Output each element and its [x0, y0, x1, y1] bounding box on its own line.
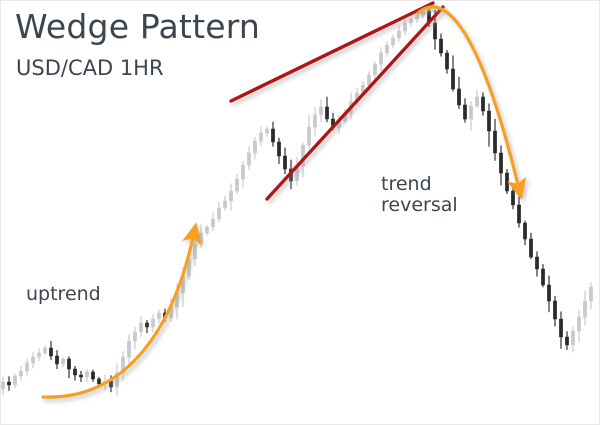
candle [541, 264, 544, 287]
candle [1, 376, 4, 395]
candle [535, 251, 538, 276]
candle [565, 331, 568, 350]
candle [559, 312, 562, 349]
candle [67, 356, 70, 378]
trend-reversal-arrow [418, 7, 519, 189]
candle [265, 126, 268, 136]
candle [589, 282, 592, 309]
candle [217, 202, 220, 222]
candle [259, 126, 262, 145]
candle [469, 101, 472, 130]
candle [529, 233, 532, 259]
candle [49, 341, 52, 360]
wedge-lower-support [267, 7, 443, 199]
candle [391, 35, 394, 48]
candle [325, 97, 328, 123]
candle [7, 376, 10, 390]
candle [241, 161, 244, 187]
candle [223, 196, 226, 211]
candle [577, 310, 580, 342]
trend-reversal-label-line2: reversal [381, 195, 458, 216]
candle [79, 371, 82, 382]
candle [43, 346, 46, 355]
candle [133, 327, 136, 349]
candle [247, 146, 250, 169]
candle [313, 107, 316, 137]
uptrend-label: uptrend [26, 284, 101, 305]
candle [445, 50, 448, 74]
candle [31, 352, 34, 368]
candle [199, 224, 202, 247]
candle [481, 92, 484, 115]
candle [517, 197, 520, 228]
candle [385, 41, 388, 56]
wedge-trendlines [231, 3, 443, 199]
candle [61, 357, 64, 368]
candle [505, 169, 508, 194]
candle [457, 77, 460, 109]
candle [493, 119, 496, 161]
candle [283, 148, 286, 174]
candle [523, 221, 526, 246]
candle [139, 316, 142, 337]
candle [37, 348, 40, 361]
candle [571, 327, 574, 353]
candle [73, 366, 76, 381]
candle [583, 291, 586, 326]
candle [379, 47, 382, 71]
candle [319, 100, 322, 122]
candle [547, 276, 550, 313]
candle [193, 241, 196, 266]
trend-reversal-label-line1: trend [381, 173, 432, 195]
candle [397, 26, 400, 42]
page-title: Wedge Pattern [15, 9, 260, 46]
candle [253, 137, 256, 159]
candle [121, 351, 124, 380]
candle [307, 115, 310, 149]
candle [235, 174, 238, 195]
candle [91, 370, 94, 382]
candle [487, 103, 490, 146]
candle [229, 183, 232, 210]
candle [13, 374, 16, 389]
candle [439, 33, 442, 56]
candle [25, 359, 28, 377]
candle [475, 90, 478, 108]
candle [19, 366, 22, 380]
candle [277, 138, 280, 164]
candle [205, 225, 208, 236]
candle [115, 364, 118, 396]
candle [511, 185, 514, 209]
candle [499, 145, 502, 185]
candle [151, 314, 154, 332]
page-subtitle: USD/CAD 1HR [16, 57, 164, 81]
candle [451, 55, 454, 91]
candle [157, 309, 160, 323]
candle [295, 157, 298, 185]
candle [211, 212, 214, 231]
candle [127, 334, 130, 367]
candle [271, 122, 274, 147]
candle [145, 320, 148, 333]
candle [553, 296, 556, 326]
trend-reversal-label: trendreversal [381, 174, 458, 217]
candle [55, 350, 58, 369]
candle [463, 98, 466, 122]
candle [85, 369, 88, 381]
chart-screenshot: Wedge Pattern USD/CAD 1HR uptrend trendr… [0, 0, 600, 425]
